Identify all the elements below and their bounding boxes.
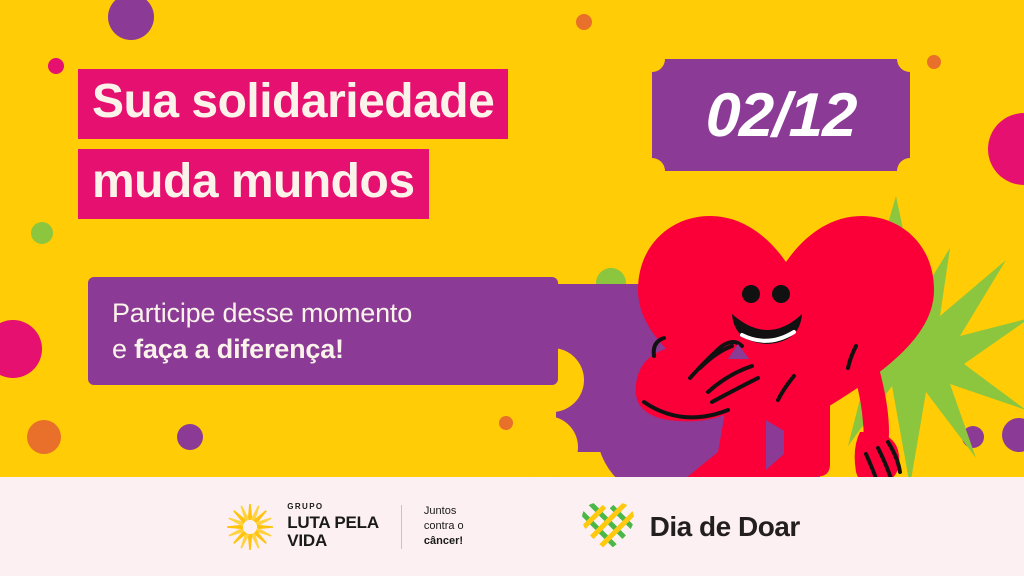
headline: Sua solidariedade muda mundos bbox=[78, 69, 508, 229]
tagline-line-3: câncer! bbox=[424, 535, 463, 547]
luta-pela-vida-wordmark: GRUPO LUTA PELA VIDA bbox=[287, 503, 379, 549]
luta-pela-vida-grupo: GRUPO bbox=[287, 503, 379, 511]
subtitle-line-2: e faça a diferença! bbox=[112, 332, 412, 368]
confetti-dot bbox=[108, 0, 154, 40]
confetti-dot bbox=[576, 14, 592, 30]
luta-pela-vida-name-1: LUTA PELA bbox=[287, 514, 379, 532]
promo-poster: Sua solidariedade muda mundos 02/12 Part… bbox=[0, 0, 1024, 576]
footer-logo-bar: GRUPO LUTA PELA VIDA Juntos contra o cân… bbox=[0, 477, 1024, 576]
luta-pela-vida-tagline: Juntos contra o câncer! bbox=[424, 504, 464, 549]
woven-heart-icon bbox=[580, 501, 636, 553]
dia-de-doar-wordmark: Dia de Doar bbox=[650, 511, 800, 543]
headline-line-1: Sua solidariedade bbox=[78, 69, 508, 139]
sunburst-icon bbox=[224, 501, 276, 553]
confetti-dot bbox=[0, 320, 42, 378]
date-badge-value: 02/12 bbox=[650, 59, 912, 171]
confetti-dot bbox=[988, 113, 1024, 185]
confetti-dot bbox=[31, 222, 53, 244]
subtitle-line-2-prefix: e bbox=[112, 334, 134, 364]
confetti-dot bbox=[499, 416, 513, 430]
luta-pela-vida-name-2: VIDA bbox=[287, 532, 379, 550]
subtitle-text: Participe desse momento e faça a diferen… bbox=[112, 296, 412, 368]
subtitle-line-2-bold: faça a diferença! bbox=[134, 334, 344, 364]
logo-dia-de-doar: Dia de Doar bbox=[580, 501, 800, 553]
headline-line-2: muda mundos bbox=[78, 149, 429, 219]
logo-luta-pela-vida: GRUPO LUTA PELA VIDA Juntos contra o cân… bbox=[224, 501, 463, 553]
tagline-line-1: Juntos bbox=[424, 504, 464, 519]
confetti-dot bbox=[927, 55, 941, 69]
confetti-dot bbox=[48, 58, 64, 74]
date-badge: 02/12 bbox=[652, 59, 910, 171]
confetti-dot bbox=[27, 420, 61, 454]
subtitle-banner: Participe desse momento e faça a diferen… bbox=[88, 277, 558, 385]
subtitle-line-1: Participe desse momento bbox=[112, 296, 412, 332]
heart-mascot bbox=[616, 196, 956, 496]
tagline-line-2: contra o bbox=[424, 519, 464, 534]
confetti-dot bbox=[177, 424, 203, 450]
logo-divider bbox=[401, 505, 402, 549]
